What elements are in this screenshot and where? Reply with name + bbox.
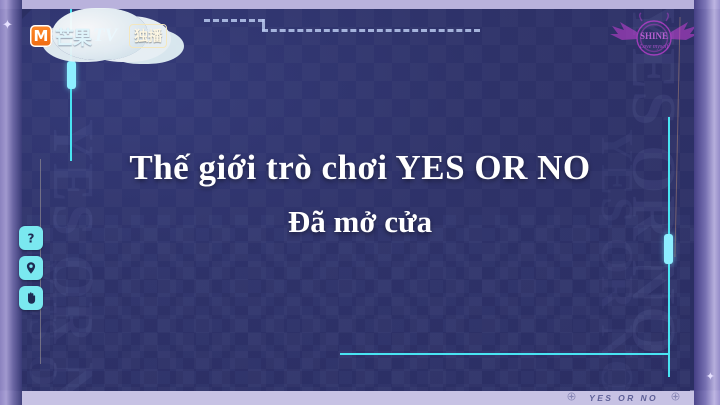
dashed-line-segment-a <box>204 19 264 22</box>
cyan-rail-bottom <box>340 353 670 355</box>
hand-icon <box>24 291 38 305</box>
mango-logo-name: 芒果 <box>55 23 91 50</box>
exclusive-badge: 独播 <box>129 24 167 48</box>
frame-edge-right <box>694 0 720 405</box>
compass-left-icon <box>567 392 576 403</box>
footer-strip: YES OR NO <box>0 390 720 405</box>
cyan-rail-left-knob[interactable] <box>67 61 76 89</box>
sparkle-right-icon: ✦ <box>706 372 715 383</box>
headline-line-1: Thế giới trò chơi YES OR NO <box>0 148 720 188</box>
sidebar-item-help[interactable]: ? <box>19 226 43 250</box>
location-pin-icon <box>24 261 38 275</box>
sidebar-icon-stack: ? <box>19 226 43 310</box>
mango-tv-logo: M 芒果 TV 独播 <box>30 14 167 58</box>
compass-right-icon <box>671 392 680 403</box>
dashed-line-segment-c <box>262 29 480 32</box>
mango-m-badge: M <box>30 25 52 47</box>
sidebar-item-location[interactable] <box>19 256 43 280</box>
frame-edge-left <box>0 0 22 405</box>
mango-logo-tv: TV <box>93 25 117 47</box>
headline-line-2: Đã mở cửa <box>0 204 720 240</box>
svg-text:?: ? <box>28 232 35 246</box>
video-frame: YES OR NO YES OR NO YES OR NO YES OR NO … <box>0 0 720 405</box>
svg-text:SHINE: SHINE <box>640 31 668 41</box>
footer-label: YES OR NO <box>589 393 658 403</box>
headline-block: Thế giới trò chơi YES OR NO Đã mở cửa <box>0 148 720 240</box>
svg-text:Love myself: Love myself <box>639 43 670 50</box>
question-mark-icon: ? <box>24 231 38 245</box>
sparkle-left-icon: ✦ <box>2 18 13 31</box>
sidebar-item-hand[interactable] <box>19 286 43 310</box>
winged-circle-emblem: SHINE Love myself <box>608 12 700 64</box>
